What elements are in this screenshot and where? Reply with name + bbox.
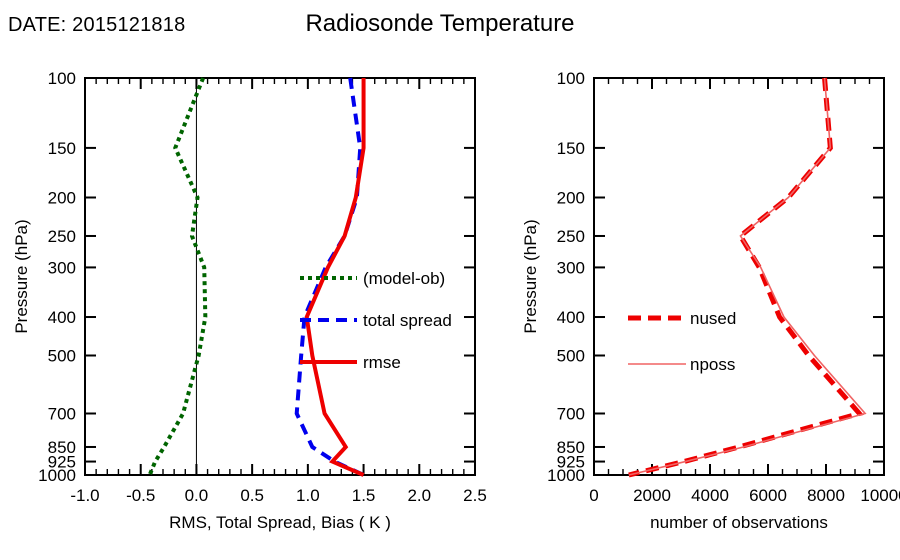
x-axis-title: number of observations [650,513,828,532]
x-tick-label: 1.0 [296,486,320,505]
x-tick-label: 0.0 [185,486,209,505]
y-tick-label: 300 [48,258,76,277]
legend-label: nused [690,309,736,328]
x-tick-label: 6000 [749,486,787,505]
legend-label: (model-ob) [363,269,445,288]
x-tick-label: -1.0 [70,486,99,505]
x-tick-label: -0.5 [126,486,155,505]
y-axis-title: Pressure (hPa) [521,219,540,333]
y-tick-label: 100 [557,69,585,88]
y-tick-label: 1000 [38,466,76,485]
y-tick-label: 500 [557,346,585,365]
y-tick-label: 200 [48,189,76,208]
series-line-nposs [629,78,865,475]
x-tick-label: 10000 [860,486,900,505]
legend-label: total spread [363,311,452,330]
x-tick-label: 0 [589,486,598,505]
page-title-text: Radiosonde Temperature [305,10,574,37]
y-axis-title: Pressure (hPa) [12,219,31,333]
x-tick-label: 0.5 [240,486,264,505]
y-tick-label: 500 [48,346,76,365]
plot-area: -1.0-0.50.00.51.01.52.02.510015020025030… [0,0,900,560]
series-line--model-ob- [150,78,206,475]
legend-label: nposs [690,355,735,374]
x-tick-label: 2000 [633,486,671,505]
y-tick-label: 100 [48,69,76,88]
panel-right: 0200040006000800010000100150200250300400… [521,69,900,532]
x-tick-label: 1.5 [352,486,376,505]
series-line-total-spread [297,78,364,475]
panel-left: -1.0-0.50.00.51.01.52.02.510015020025030… [12,69,487,532]
legend-label: rmse [363,353,401,372]
x-tick-label: 4000 [691,486,729,505]
y-tick-label: 700 [557,405,585,424]
x-axis-title: RMS, Total Spread, Bias ( K ) [169,513,391,532]
page-title: Radiosonde Temperature [0,10,900,38]
y-tick-label: 1000 [547,466,585,485]
x-tick-label: 8000 [807,486,845,505]
y-tick-label: 150 [557,139,585,158]
y-tick-label: 700 [48,405,76,424]
series-line-nused [629,78,860,475]
y-tick-label: 400 [557,308,585,327]
x-tick-label: 2.0 [407,486,431,505]
plot-frame [594,78,884,475]
figure-canvas: DATE: 2015121818 Radiosonde Temperature … [0,0,900,560]
y-tick-label: 200 [557,189,585,208]
y-tick-label: 250 [48,227,76,246]
y-tick-label: 400 [48,308,76,327]
x-tick-label: 2.5 [463,486,487,505]
y-tick-label: 250 [557,227,585,246]
y-tick-label: 300 [557,258,585,277]
y-tick-label: 150 [48,139,76,158]
